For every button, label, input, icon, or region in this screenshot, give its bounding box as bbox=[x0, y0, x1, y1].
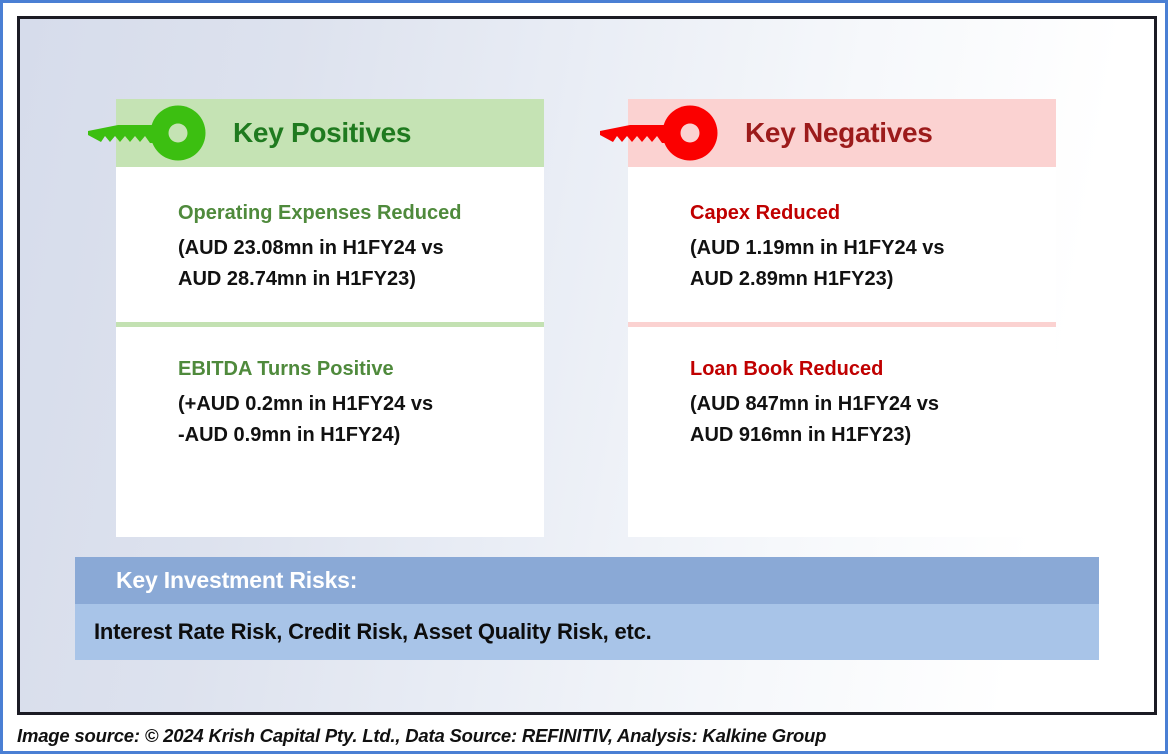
footer-source-text: Image source: © 2024 Krish Capital Pty. … bbox=[17, 725, 826, 747]
positive-item-1-line-1: (AUD 23.08mn in H1FY24 vs bbox=[178, 233, 544, 264]
key-investment-risks-banner: Key Investment Risks: Interest Rate Risk… bbox=[75, 557, 1099, 660]
positive-item-2-line-2: -AUD 0.9mn in H1FY24) bbox=[178, 420, 544, 451]
key-icon bbox=[595, 105, 721, 161]
key-positives-header: Key Positives bbox=[116, 99, 544, 167]
negative-item-2-line-2: AUD 916mn in H1FY23) bbox=[690, 420, 1056, 451]
key-negatives-title: Key Negatives bbox=[745, 117, 933, 149]
positive-item-1: Operating Expenses Reduced (AUD 23.08mn … bbox=[116, 167, 544, 322]
negative-item-1-title: Capex Reduced bbox=[690, 201, 1056, 226]
negative-item-2-title: Loan Book Reduced bbox=[690, 357, 1056, 382]
slide-frame: Key Positives Operating Expenses Reduced… bbox=[0, 0, 1168, 754]
risks-body-text: Interest Rate Risk, Credit Risk, Asset Q… bbox=[75, 619, 652, 645]
key-negatives-header: Key Negatives bbox=[628, 99, 1056, 167]
risks-body: Interest Rate Risk, Credit Risk, Asset Q… bbox=[75, 604, 1099, 660]
positive-item-2-line-1: (+AUD 0.2mn in H1FY24 vs bbox=[178, 389, 544, 420]
positive-item-1-title: Operating Expenses Reduced bbox=[178, 201, 544, 226]
negative-item-1: Capex Reduced (AUD 1.19mn in H1FY24 vs A… bbox=[628, 167, 1056, 322]
positive-item-2: EBITDA Turns Positive (+AUD 0.2mn in H1F… bbox=[116, 327, 544, 451]
positive-item-1-line-2: AUD 28.74mn in H1FY23) bbox=[178, 264, 544, 295]
negative-item-2: Loan Book Reduced (AUD 847mn in H1FY24 v… bbox=[628, 327, 1056, 451]
key-icon bbox=[83, 105, 209, 161]
footer-source: Image source: © 2024 Krish Capital Pty. … bbox=[17, 721, 1157, 751]
negative-item-1-line-2: AUD 2.89mn H1FY23) bbox=[690, 264, 1056, 295]
key-positives-title: Key Positives bbox=[233, 117, 411, 149]
negative-item-2-line-1: (AUD 847mn in H1FY24 vs bbox=[690, 389, 1056, 420]
key-negatives-body: Capex Reduced (AUD 1.19mn in H1FY24 vs A… bbox=[628, 167, 1056, 537]
main-panel: Key Positives Operating Expenses Reduced… bbox=[17, 16, 1157, 715]
risks-header-text: Key Investment Risks: bbox=[75, 567, 357, 594]
negative-item-1-line-1: (AUD 1.19mn in H1FY24 vs bbox=[690, 233, 1056, 264]
risks-header: Key Investment Risks: bbox=[75, 557, 1099, 604]
key-positives-body: Operating Expenses Reduced (AUD 23.08mn … bbox=[116, 167, 544, 537]
positive-item-2-title: EBITDA Turns Positive bbox=[178, 357, 544, 382]
key-negatives-column: Key Negatives Capex Reduced (AUD 1.19mn … bbox=[628, 99, 1056, 537]
key-positives-column: Key Positives Operating Expenses Reduced… bbox=[116, 99, 544, 537]
